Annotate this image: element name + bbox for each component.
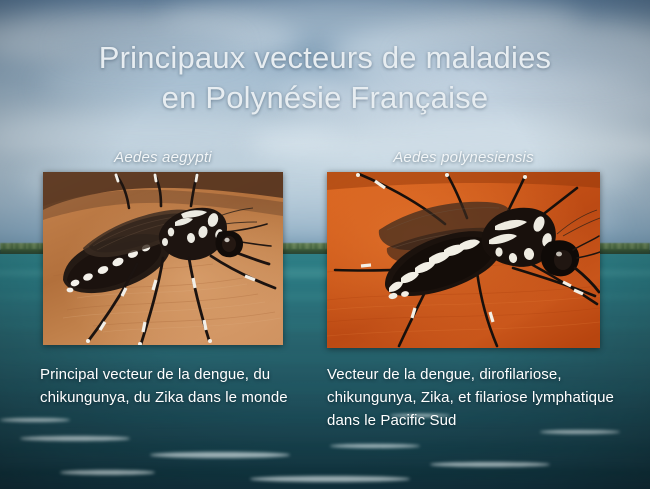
- slide-title-line-2: en Polynésie Française: [0, 78, 650, 118]
- mosquito-aedes-polynesiensis-illustration: [327, 172, 600, 348]
- mosquito-aedes-aegypti-illustration: [43, 172, 283, 345]
- species-label-aedes-polynesiensis: Aedes polynesiensis: [327, 149, 600, 166]
- slide-title-line-1: Principaux vecteurs de maladies: [99, 40, 551, 75]
- slide-title: Principaux vecteurs de maladies en Polyn…: [0, 38, 650, 118]
- caption-aedes-aegypti: Principal vecteur de la dengue, du chiku…: [40, 363, 295, 409]
- photo-aedes-polynesiensis: [327, 172, 600, 348]
- species-label-aedes-aegypti: Aedes aegypti: [43, 149, 283, 166]
- presentation-slide: Principaux vecteurs de maladies en Polyn…: [0, 0, 650, 489]
- caption-aedes-polynesiensis: Vecteur de la dengue, dirofilariose, chi…: [327, 363, 617, 432]
- photo-aedes-aegypti: [43, 172, 283, 345]
